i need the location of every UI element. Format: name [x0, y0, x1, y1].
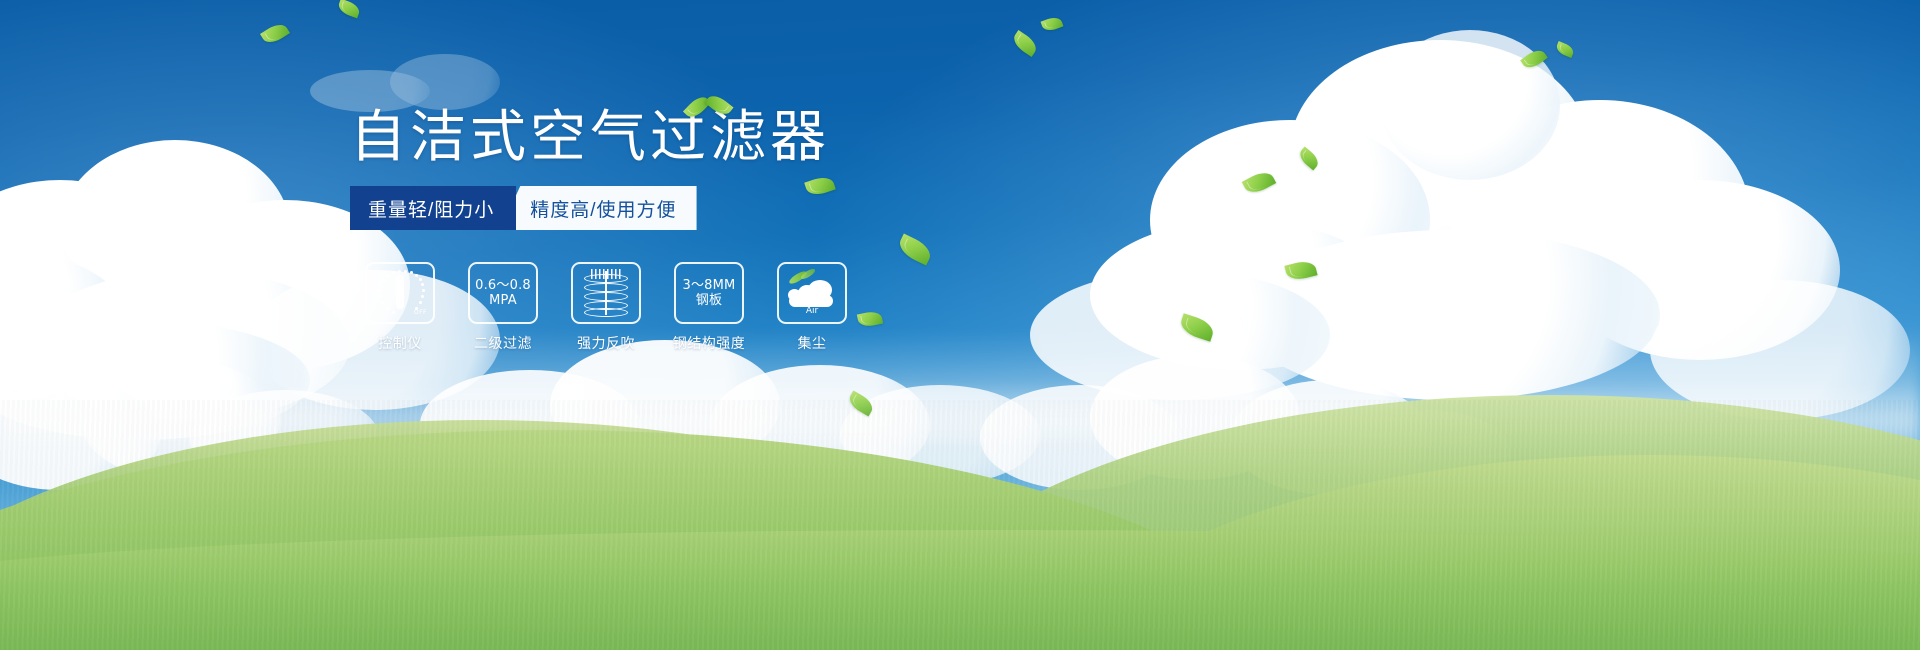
- feature-label: 集尘: [762, 333, 862, 353]
- feature-icon-box: NO OFF: [365, 262, 435, 324]
- banner-content: 自洁式空气过滤器 重量轻/阻力小 精度高/使用方便: [350, 110, 1070, 353]
- grass-texture: [0, 400, 1920, 650]
- feature-controller[interactable]: NO OFF 控制仪: [350, 262, 450, 353]
- feature-icon-box: Air: [777, 262, 847, 324]
- pressure-text-icon: 0.6～0.8 MPA: [475, 278, 531, 308]
- gauge-label-no: NO: [372, 290, 382, 297]
- gauge-dial-icon: NO OFF: [372, 268, 428, 318]
- feature-badges: NO OFF 控制仪 0.6～0.8 MPA 二级过滤: [350, 262, 1070, 353]
- banner-stage: 自洁式空气过滤器 重量轻/阻力小 精度高/使用方便: [0, 0, 1920, 650]
- feature-strong-blowback[interactable]: 强力反吹: [556, 262, 656, 353]
- air-cloud-icon: Air: [786, 271, 838, 315]
- pressure-range-line: 0.6～0.8: [475, 278, 531, 293]
- steel-plate-text-icon: 3～8MM 钢板: [683, 278, 736, 308]
- feature-secondary-filter[interactable]: 0.6～0.8 MPA 二级过滤: [453, 262, 553, 353]
- gauge-label-off: OFF: [414, 309, 427, 316]
- feature-dust-collection[interactable]: Air 集尘: [762, 262, 862, 353]
- feature-label: 二级过滤: [453, 333, 553, 353]
- feature-label: 钢结构强度: [659, 333, 759, 353]
- feature-label: 控制仪: [350, 333, 450, 353]
- feature-steel-strength[interactable]: 3～8MM 钢板 钢结构强度: [659, 262, 759, 353]
- coil-blowback-icon: [584, 269, 628, 317]
- feature-label: 强力反吹: [556, 333, 656, 353]
- feature-icon-box: [571, 262, 641, 324]
- feature-icon-box: 3～8MM 钢板: [674, 262, 744, 324]
- steel-material-line: 钢板: [683, 293, 736, 308]
- steel-thickness-line: 3～8MM: [683, 278, 736, 293]
- tab-highprecision-easyuse[interactable]: 精度高/使用方便: [500, 186, 696, 230]
- leaf-decoration: [683, 93, 711, 121]
- leaf-decoration: [704, 91, 733, 118]
- feature-tabs: 重量轻/阻力小 精度高/使用方便: [350, 186, 1070, 230]
- air-label: Air: [786, 306, 838, 316]
- title-leaf-pair: [680, 92, 740, 132]
- pressure-unit-line: MPA: [475, 293, 531, 308]
- tab-lightweight-lowresistance[interactable]: 重量轻/阻力小: [350, 186, 516, 230]
- feature-icon-box: 0.6～0.8 MPA: [468, 262, 538, 324]
